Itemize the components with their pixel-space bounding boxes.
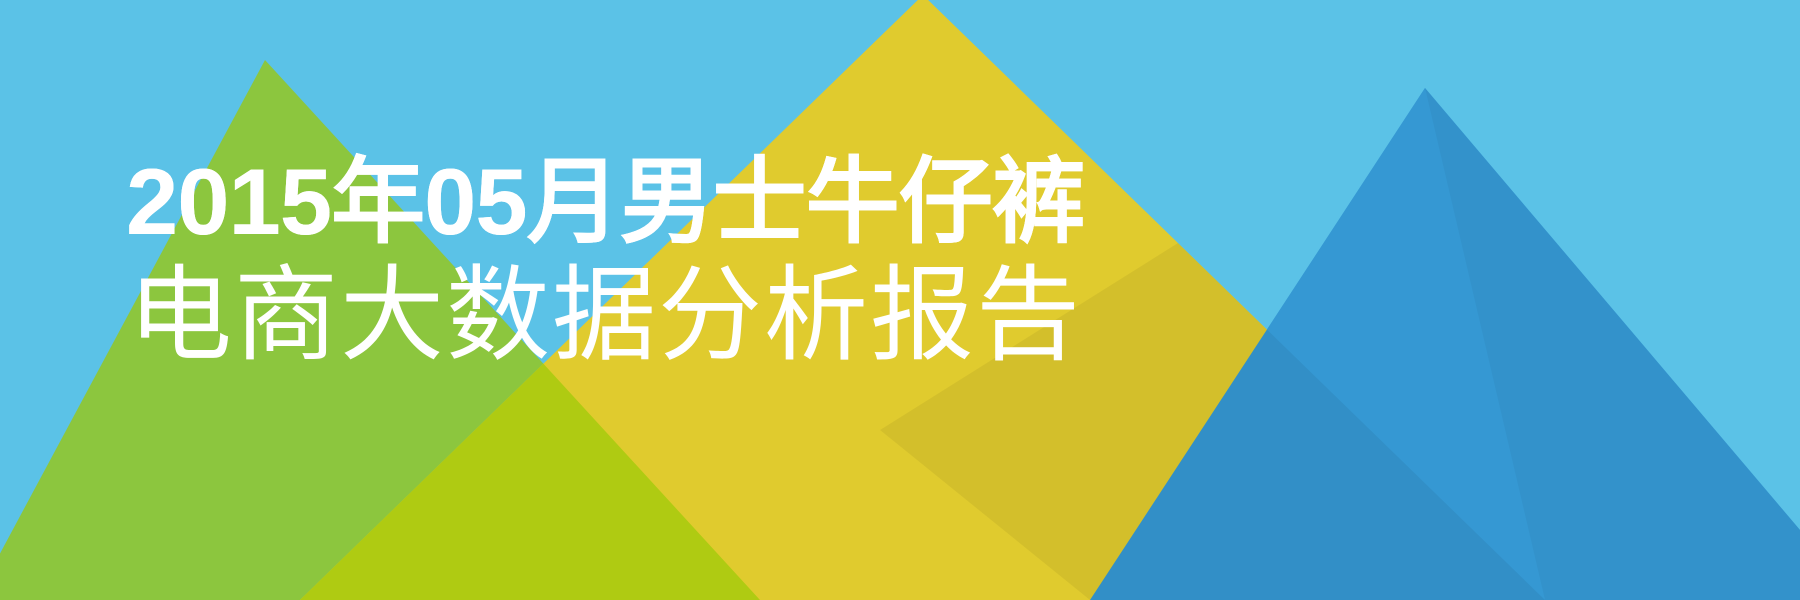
blue-shadow-shape (1425, 88, 1800, 600)
blue-shadow-group (1425, 88, 1800, 600)
banner-title-line-2: 电商大数据分析报告 (128, 258, 1085, 374)
banner-title-block: 2015年05月男士牛仔裤 电商大数据分析报告 (126, 152, 1085, 374)
report-cover-banner: 2015年05月男士牛仔裤 电商大数据分析报告 (0, 0, 1800, 600)
banner-title-line-1: 2015年05月男士牛仔裤 (126, 152, 1085, 252)
